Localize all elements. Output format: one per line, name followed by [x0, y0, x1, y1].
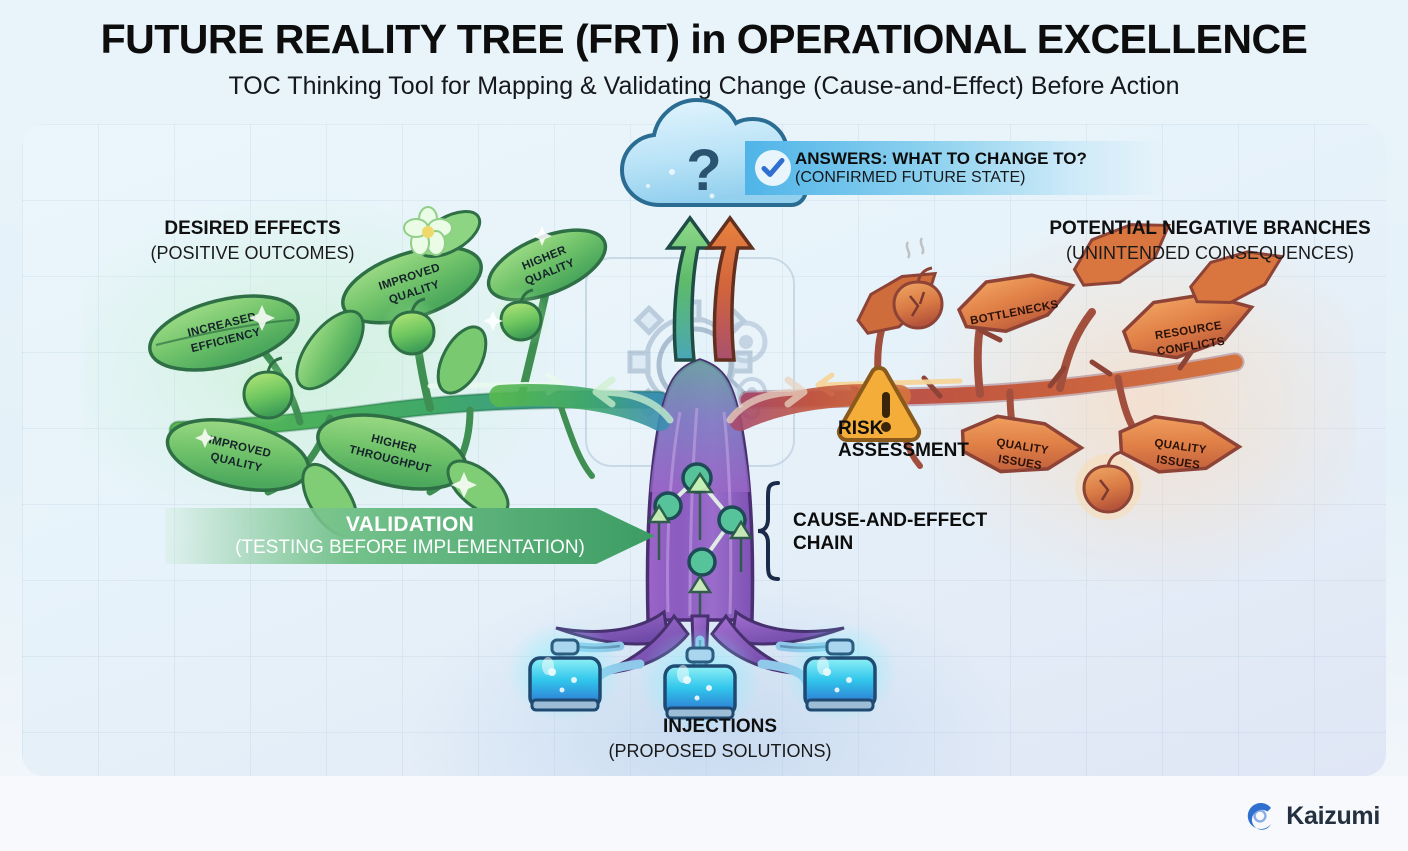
cause-effect-chain-label: CAUSE-AND-EFFECT CHAIN — [793, 510, 987, 556]
risk-line-2: ASSESSMENT — [838, 440, 969, 462]
desired-effects-sub: (POSITIVE OUTCOMES) — [80, 243, 425, 265]
negative-branches-title: POTENTIAL NEGATIVE BRANCHES — [1015, 218, 1405, 241]
desired-effects-title: DESIRED EFFECTS — [80, 218, 425, 241]
negative-branches-sub: (UNINTENDED CONSEQUENCES) — [1015, 243, 1405, 265]
risk-line-1: RISK — [838, 418, 969, 440]
chain-line-2: CHAIN — [793, 533, 987, 556]
injections-title: INJECTIONS — [560, 716, 880, 739]
brand-name: Kaizumi — [1286, 802, 1380, 831]
risk-assessment-label: RISK ASSESSMENT — [838, 418, 969, 463]
check-circle-icon — [755, 150, 791, 186]
leaf-bottlenecks: BOTTLENECKS — [955, 266, 1079, 339]
apple-icon — [380, 298, 444, 362]
injection-vial — [507, 622, 623, 722]
tree-trunk — [500, 360, 900, 620]
chain-line-1: CAUSE-AND-EFFECT — [793, 510, 987, 533]
apple-icon — [234, 358, 302, 426]
injections-label: INJECTIONS (PROPOSED SOLUTIONS) — [560, 716, 880, 762]
chain-node — [689, 549, 715, 575]
injections-sub: (PROPOSED SOLUTIONS) — [560, 741, 880, 763]
validation-subtitle: (TESTING BEFORE IMPLEMENTATION) — [235, 537, 585, 559]
injection-vial — [782, 622, 898, 722]
question-mark: ? — [686, 138, 721, 203]
apple-icon — [491, 288, 551, 348]
page-footer: Kaizumi — [0, 776, 1408, 851]
stink-lines-icon — [907, 238, 923, 258]
validation-arrow-banner: VALIDATION (TESTING BEFORE IMPLEMENTATIO… — [165, 508, 655, 564]
desired-effects-label: DESIRED EFFECTS (POSITIVE OUTCOMES) — [80, 218, 425, 264]
answers-banner: ANSWERS: WHAT TO CHANGE TO? (CONFIRMED F… — [745, 141, 1165, 195]
rotten-apple-icon — [1075, 452, 1141, 520]
brand-logo: Kaizumi — [1243, 799, 1380, 833]
validation-title: VALIDATION — [346, 513, 474, 537]
banner-title: ANSWERS: WHAT TO CHANGE TO? — [795, 149, 1087, 169]
leaf-quality-issues-left: QUALITY ISSUES — [957, 411, 1084, 483]
curly-brace-icon — [758, 483, 778, 579]
kaizumi-swirl-icon — [1243, 799, 1277, 833]
negative-branches-label: POTENTIAL NEGATIVE BRANCHES (UNINTENDED … — [1015, 218, 1405, 264]
banner-subtitle: (CONFIRMED FUTURE STATE) — [795, 169, 1087, 188]
